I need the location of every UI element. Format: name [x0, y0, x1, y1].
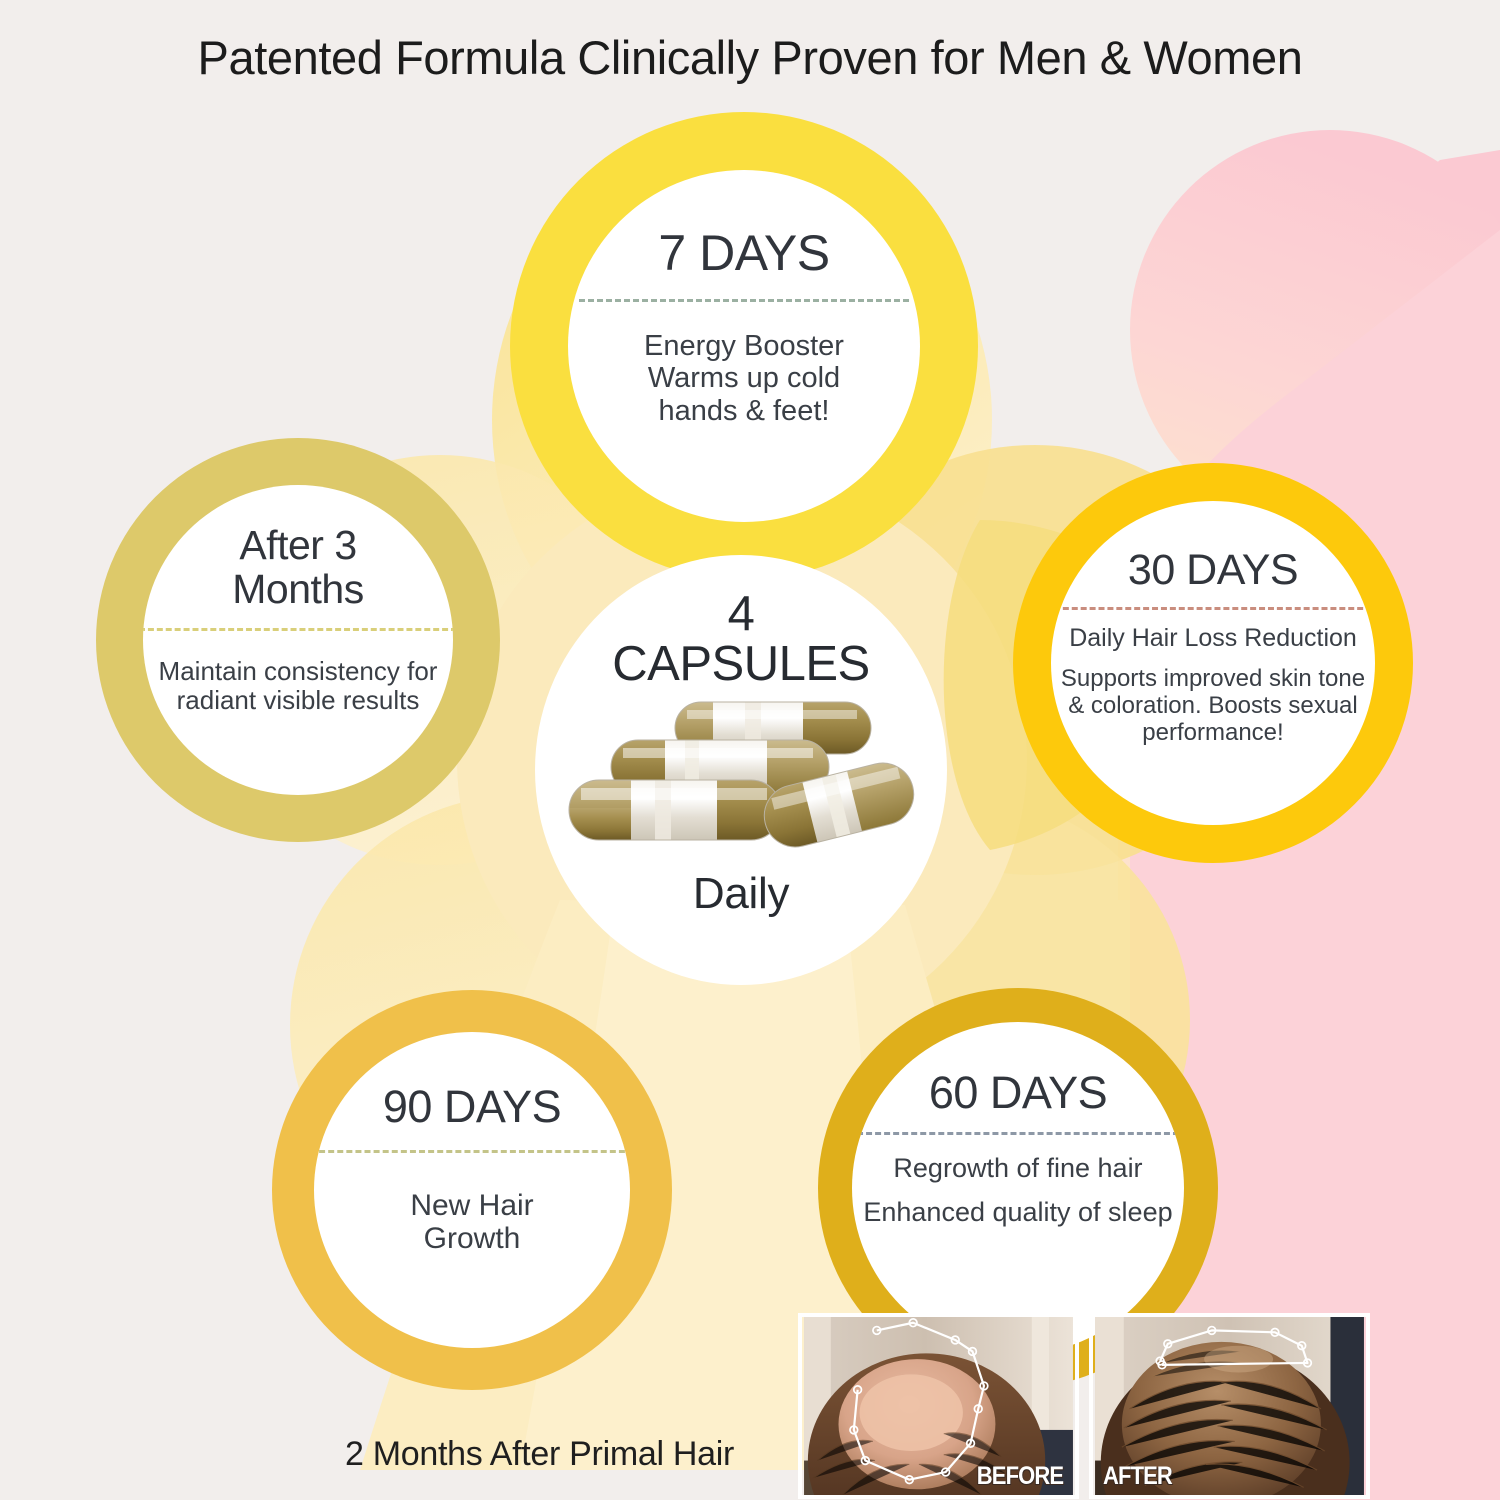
- before-label: BEFORE: [977, 1462, 1063, 1491]
- milestone-body-line-1: New Hair: [410, 1189, 533, 1222]
- milestone-heading-line-1: After 3: [239, 522, 356, 568]
- capsule-photo: [567, 696, 915, 861]
- milestone-heading-line-2: Months: [232, 566, 363, 612]
- milestone-body-line-2: Warms up cold: [648, 362, 840, 394]
- milestone-body-line-1: Regrowth of fine hair: [893, 1153, 1142, 1183]
- dosage-heading: 4 CAPSULES: [612, 589, 869, 690]
- before-after-caption: 2 Months After Primal Hair: [345, 1435, 734, 1474]
- milestone-body-90days: New Hair Growth: [410, 1189, 533, 1256]
- after-label: AFTER: [1103, 1462, 1172, 1491]
- milestone-divider-90days: [314, 1150, 630, 1153]
- milestone-body-3months: Maintain consistency for radiant visible…: [143, 657, 453, 715]
- milestone-divider-60days: [852, 1132, 1184, 1135]
- milestone-inner-30days: 30 DAYS Daily Hair Loss Reduction Suppor…: [1051, 501, 1375, 825]
- milestone-divider-30days: [1051, 607, 1375, 610]
- dosage-unit: CAPSULES: [612, 637, 869, 691]
- before-after-photo-strip: BEFORE: [798, 1313, 1370, 1499]
- dosage-frequency: Daily: [693, 869, 789, 919]
- milestone-body-line-3: hands & feet!: [659, 395, 830, 427]
- milestone-card-3months[interactable]: After 3 Months Maintain consistency for …: [96, 438, 500, 842]
- milestone-inner-60days: 60 DAYS Regrowth of fine hair Enhanced q…: [852, 1022, 1184, 1354]
- milestone-inner-3months: After 3 Months Maintain consistency for …: [143, 485, 453, 795]
- milestone-card-7days[interactable]: 7 DAYS Energy Booster Warms up cold hand…: [510, 112, 978, 580]
- milestone-divider-3months: [143, 628, 453, 631]
- milestone-card-90days[interactable]: 90 DAYS New Hair Growth: [272, 990, 672, 1390]
- milestone-body-line-1: Energy Booster: [644, 330, 844, 362]
- milestone-body-line-1: Daily Hair Loss Reduction: [1069, 624, 1357, 652]
- milestone-body-60days: Regrowth of fine hair Enhanced quality o…: [863, 1153, 1172, 1227]
- dosage-number: 4: [612, 589, 869, 639]
- milestone-inner-7days: 7 DAYS Energy Booster Warms up cold hand…: [568, 170, 920, 522]
- milestone-body-30days: Daily Hair Loss Reduction Supports impro…: [1051, 624, 1375, 747]
- milestone-heading-30days: 30 DAYS: [1128, 549, 1298, 593]
- center-dosage-card: 4 CAPSULES: [535, 555, 947, 985]
- after-photo: AFTER: [1089, 1313, 1370, 1499]
- milestone-heading-60days: 60 DAYS: [929, 1070, 1107, 1116]
- milestone-heading-7days: 7 DAYS: [658, 228, 829, 279]
- milestone-body-line-2: Growth: [424, 1222, 521, 1255]
- before-photo: BEFORE: [798, 1313, 1079, 1499]
- milestone-inner-90days: 90 DAYS New Hair Growth: [314, 1032, 630, 1348]
- milestone-card-30days[interactable]: 30 DAYS Daily Hair Loss Reduction Suppor…: [1013, 463, 1413, 863]
- milestone-heading-3months: After 3 Months: [232, 523, 363, 612]
- milestone-body-7days: Energy Booster Warms up cold hands & fee…: [644, 330, 844, 427]
- milestone-body-line-2: Supports improved skin tone & coloration…: [1051, 666, 1375, 747]
- page-title: Patented Formula Clinically Proven for M…: [0, 30, 1500, 85]
- milestone-body-line-2: Enhanced quality of sleep: [863, 1197, 1172, 1227]
- milestone-divider-7days: [579, 299, 909, 302]
- milestone-heading-90days: 90 DAYS: [383, 1084, 561, 1130]
